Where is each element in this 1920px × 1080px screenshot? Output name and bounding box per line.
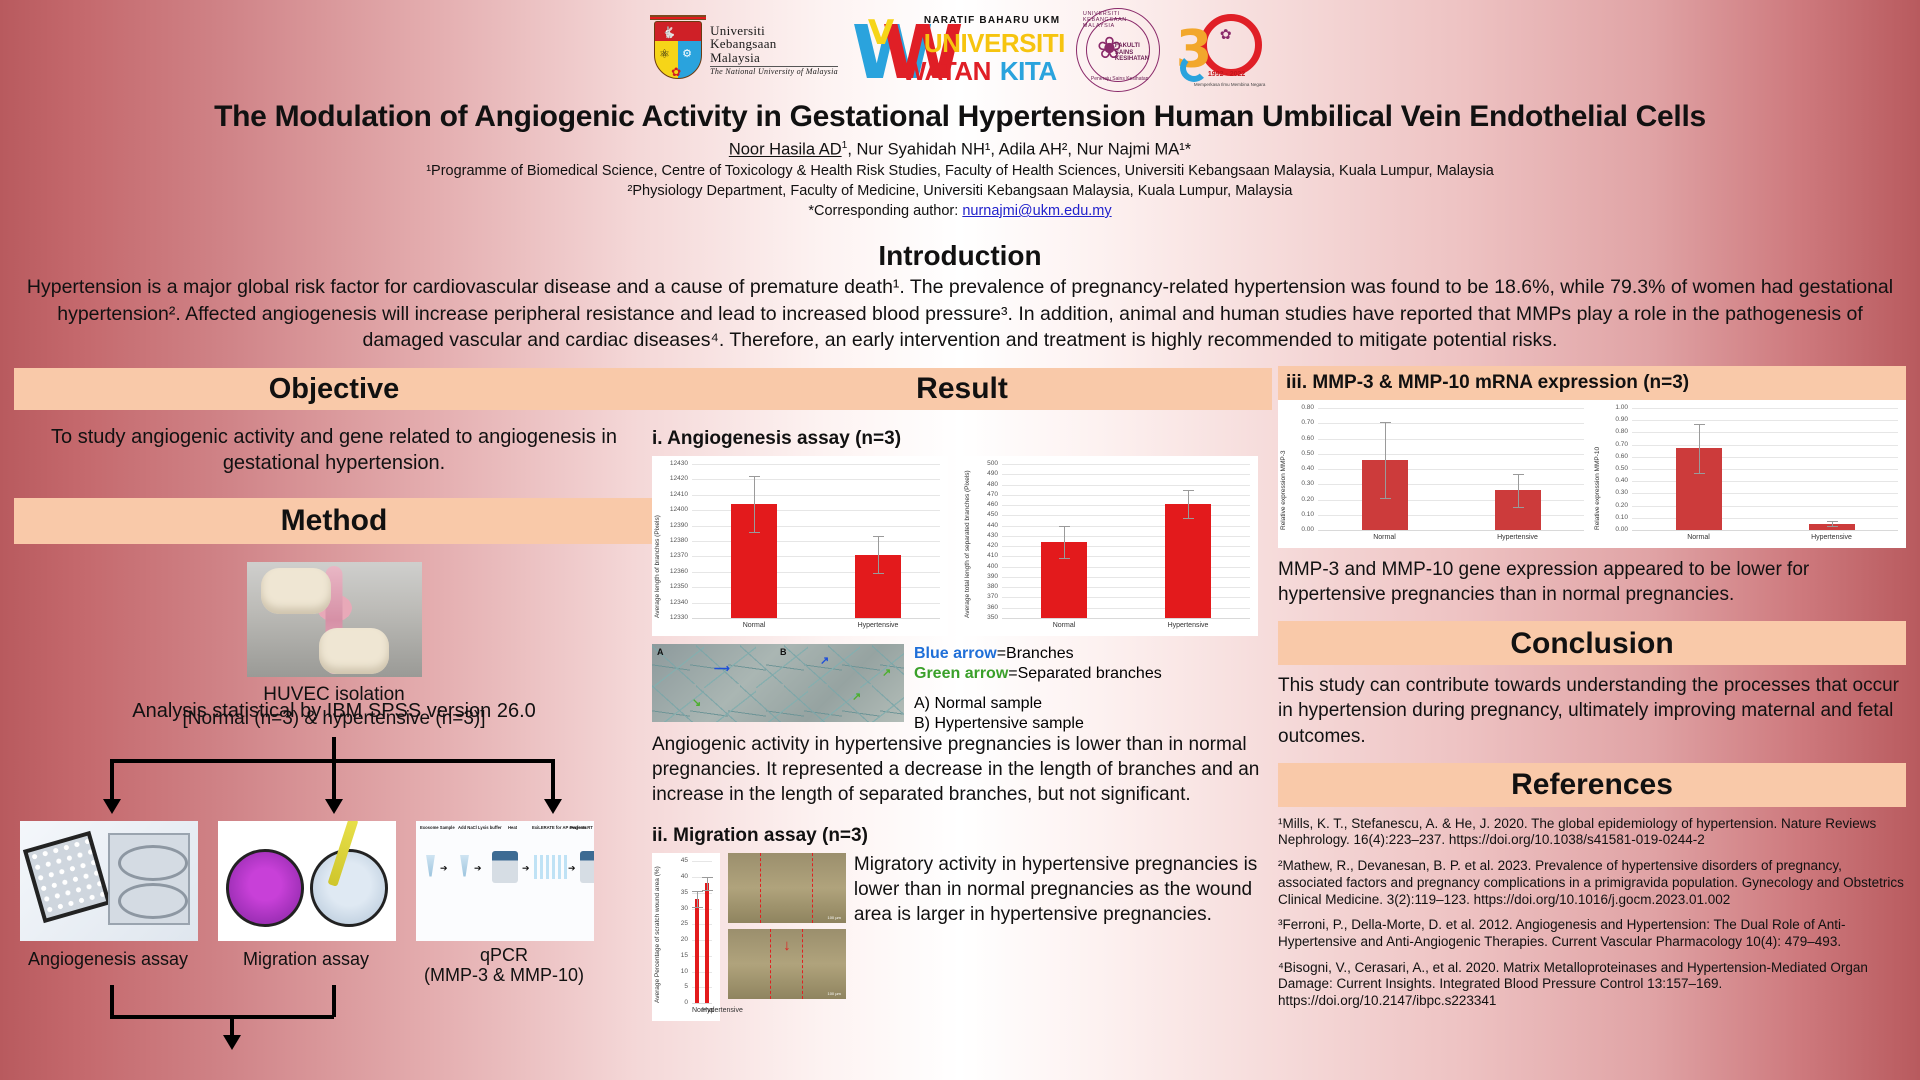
error-bar-cap <box>873 536 884 537</box>
x-axis-tick: Normal <box>1318 534 1451 541</box>
flow-stem <box>332 737 336 759</box>
x-axis-tick: Normal <box>1632 534 1765 541</box>
huvec-isolation-photo <box>247 562 422 677</box>
x-axis-line <box>692 618 940 619</box>
qpcr-step-label-5: Perform RT <box>570 825 593 830</box>
y-axis-tick: 460 <box>974 501 998 508</box>
error-bar <box>1699 424 1700 473</box>
gridline <box>1002 587 1250 588</box>
gridline <box>1318 423 1584 424</box>
y-axis-tick: 0.00 <box>1290 526 1314 533</box>
y-axis-tick: 360 <box>974 604 998 611</box>
y-axis-tick: 12340 <box>664 599 688 606</box>
poster-title: The Modulation of Angiogenic Activity in… <box>0 100 1920 134</box>
y-axis-tick: 0.40 <box>1604 477 1628 484</box>
x-axis-tick: Normal <box>692 622 816 629</box>
ukm-shield-icon: 🐇⚛ ⚙✿ <box>650 13 706 87</box>
y-axis-tick: 410 <box>974 552 998 559</box>
x-axis-tick: Normal <box>692 1007 702 1014</box>
chart-average-length-of-branches: Average length of branches (Pixels)12330… <box>652 456 948 636</box>
ukm-line-1: Universiti <box>710 24 838 37</box>
y-axis-tick: 35 <box>664 889 688 896</box>
y-axis-tick: 0.30 <box>1604 489 1628 496</box>
reference-item-1: ¹Mills, K. T., Stefanescu, A. & He, J. 2… <box>1278 816 1906 849</box>
gridline <box>692 572 940 573</box>
sample-b-caption: B) Hypertensive sample <box>914 714 1162 734</box>
error-bar-cap <box>1513 474 1524 475</box>
gridline <box>692 526 940 527</box>
y-axis-tick: 0.50 <box>1604 465 1628 472</box>
arrow-legend: Blue arrow=Branches Green arrow=Separate… <box>914 644 1162 734</box>
gridline <box>1318 484 1584 485</box>
corresponding-email-link[interactable]: nurnajmi@ukm.edu.my <box>962 203 1111 219</box>
qpcr-step-label-2: Add NaCl Lysis buffer <box>458 825 502 830</box>
flow-return-2 <box>332 985 336 1017</box>
error-bar <box>1518 474 1519 508</box>
error-bar-cap <box>1513 507 1524 508</box>
gridline <box>1632 420 1898 421</box>
gridline <box>1002 536 1250 537</box>
flow-arrowhead-1 <box>103 799 121 814</box>
x-axis-tick: Hypertensive <box>816 622 940 629</box>
bar <box>1165 504 1211 618</box>
anniversary-sub: Memperkasa Ilmu Membina Negara <box>1194 82 1266 87</box>
qpcr-workflow-image: Exosome Sample Add NaCl Lysis buffer Hea… <box>416 821 594 941</box>
conclusion-body: This study can contribute towards unders… <box>1278 673 1906 748</box>
gridline <box>1632 432 1898 433</box>
y-axis-tick: 0.10 <box>1290 511 1314 518</box>
y-axis-tick: 20 <box>664 936 688 943</box>
naratif-watan-text: WATAN <box>902 56 991 87</box>
y-axis-title: Average length of branches (Pixels) <box>654 464 661 618</box>
error-bar <box>878 536 879 573</box>
flow-branch-1 <box>110 759 114 801</box>
y-axis-tick: 0.70 <box>1290 419 1314 426</box>
y-axis-tick: 0 <box>664 999 688 1006</box>
angiogenesis-plate-image <box>20 821 198 941</box>
x-axis-tick: Hypertensive <box>1765 534 1898 541</box>
y-axis-tick: 0.20 <box>1290 496 1314 503</box>
x-axis-tick: Normal <box>1002 622 1126 629</box>
y-axis-tick: 490 <box>974 470 998 477</box>
y-axis-tick: 12430 <box>664 460 688 467</box>
fsk-ring-text: UNIVERSITI KEBANGSAAN MALAYSIA <box>1083 11 1159 29</box>
y-axis-title: Average Percentage of scratch wound area… <box>654 861 661 1003</box>
qpcr-label-line-2: (MMP-3 & MMP-10) <box>404 965 604 986</box>
objective-body: To study angiogenic activity and gene re… <box>14 424 654 476</box>
y-axis-tick: 12370 <box>664 552 688 559</box>
y-axis-tick: 0.10 <box>1604 514 1628 521</box>
gridline <box>1632 518 1898 519</box>
error-bar-cap <box>692 907 703 908</box>
gridline <box>1632 457 1898 458</box>
mmp-result-text: MMP-3 and MMP-10 gene expression appeare… <box>1278 558 1906 607</box>
error-bar-cap <box>873 573 884 574</box>
error-bar-cap <box>1183 518 1194 519</box>
error-bar <box>697 891 698 907</box>
flow-arrowhead-3 <box>544 799 562 814</box>
y-axis-tick: 0.80 <box>1604 428 1628 435</box>
reference-item-2: ²Mathew, R., Devanesan, B. P. et al. 202… <box>1278 858 1906 908</box>
gridline <box>1318 515 1584 516</box>
chart-mmp3-expression: Relative expression MMP-30.000.100.200.3… <box>1278 400 1592 548</box>
y-axis-tick: 15 <box>664 952 688 959</box>
sample-a-caption: A) Normal sample <box>914 694 1162 714</box>
gridline <box>1632 493 1898 494</box>
angiogenesis-result-text: Angiogenic activity in hypertensive preg… <box>652 732 1272 807</box>
y-axis-tick: 370 <box>974 593 998 600</box>
reference-item-4: ⁴Bisogni, V., Cerasari, A., et al. 2020.… <box>1278 960 1906 1010</box>
fsk-sub-text: Peneraju Sains Kesihatan <box>1091 76 1149 82</box>
y-axis-tick: 40 <box>664 873 688 880</box>
gridline <box>692 861 712 862</box>
gridline <box>1318 439 1584 440</box>
gridline <box>1002 526 1250 527</box>
naratif-universiti-text: UNIVERSITI <box>924 28 1065 59</box>
gridline <box>1002 567 1250 568</box>
green-arrow-label: Green arrow <box>914 665 1008 682</box>
corresponding-author: *Corresponding author: nurnajmi@ukm.edu.… <box>0 202 1920 221</box>
migration-subheading: ii. Migration assay (n=3) <box>652 825 1272 847</box>
gridline <box>1002 474 1250 475</box>
gridline <box>1318 408 1584 409</box>
flow-return-arrowhead <box>223 1035 241 1050</box>
corresponding-label: *Corresponding author: <box>808 203 962 219</box>
y-axis-tick: 0.70 <box>1604 441 1628 448</box>
y-axis-tick: 0.50 <box>1290 450 1314 457</box>
scalebar-label-2: 100 µm <box>827 991 840 996</box>
gridline <box>692 541 940 542</box>
x-axis-line <box>692 1003 712 1004</box>
y-axis-tick: 12390 <box>664 522 688 529</box>
y-axis-tick: 420 <box>974 542 998 549</box>
chart-scratch-wound-area: Average Percentage of scratch wound area… <box>652 853 720 1021</box>
chart-separated-branches: Average total length of separated branch… <box>962 456 1258 636</box>
error-bar-cap <box>1059 526 1070 527</box>
y-axis-tick: 0.20 <box>1604 502 1628 509</box>
introduction-heading: Introduction <box>0 240 1920 272</box>
gridline <box>1002 577 1250 578</box>
gridline <box>1002 505 1250 506</box>
y-axis-tick: 450 <box>974 511 998 518</box>
affiliation-1: ¹Programme of Biomedical Science, Centre… <box>0 162 1920 181</box>
middle-column: Result i. Angiogenesis assay (n=3) Avera… <box>652 368 1272 1021</box>
gridline <box>1632 506 1898 507</box>
gridline <box>1002 546 1250 547</box>
mmp-banner: iii. MMP-3 & MMP-10 mRNA expression (n=3… <box>1278 366 1906 400</box>
qpcr-label-line-1: qPCR <box>404 945 604 966</box>
gridline <box>1318 469 1584 470</box>
introduction-body: Hypertension is a major global risk fact… <box>22 274 1898 354</box>
gridline <box>692 556 940 557</box>
error-bar <box>754 476 755 531</box>
y-axis-tick: 30 <box>664 905 688 912</box>
first-author: Noor Hasila AD <box>729 141 842 159</box>
x-axis-tick: Hypertensive <box>1451 534 1584 541</box>
error-bar-cap <box>749 532 760 533</box>
y-axis-tick: 0.00 <box>1604 526 1628 533</box>
y-axis-tick: 12420 <box>664 475 688 482</box>
error-bar-cap <box>1694 473 1705 474</box>
error-bar <box>1064 526 1065 559</box>
gridline <box>1318 454 1584 455</box>
qpcr-step-label-3: Heat <box>508 825 517 830</box>
conclusion-banner: Conclusion <box>1278 621 1906 665</box>
fakulti-sains-kesihatan-logo: UNIVERSITI KEBANGSAAN MALAYSIA ❀ FAKULTI… <box>1076 8 1160 92</box>
flow-return-1 <box>110 985 114 1017</box>
author-list: Noor Hasila AD1, Nur Syahidah NH¹, Adila… <box>0 140 1920 160</box>
gridline <box>1632 445 1898 446</box>
scratch-assay-photo-hypertensive: ↓ 100 µm <box>728 929 846 999</box>
error-bar-cap <box>1380 422 1391 423</box>
y-axis-tick: 390 <box>974 573 998 580</box>
ukm-wordmark: Universiti Kebangsaan Malaysia The Natio… <box>710 24 838 76</box>
angiogenesis-charts-row: Average length of branches (Pixels)12330… <box>652 456 1272 636</box>
author-rest: , Nur Syahidah NH¹, Adila AH², Nur Najmi… <box>847 141 1191 159</box>
y-axis-tick: 0.90 <box>1604 416 1628 423</box>
poster-canvas: 🐇⚛ ⚙✿ Universiti Kebangsaan Malaysia The… <box>0 0 1920 1080</box>
ukm-crest-logo: 🐇⚛ ⚙✿ Universiti Kebangsaan Malaysia The… <box>650 13 838 87</box>
error-bar-cap <box>1694 424 1705 425</box>
left-column: Objective To study angiogenic activity a… <box>14 368 654 987</box>
gridline <box>692 587 940 588</box>
x-axis-line <box>1318 530 1584 531</box>
y-axis-tick: 380 <box>974 583 998 590</box>
bar <box>695 899 699 1003</box>
gridline <box>1002 485 1250 486</box>
blue-arrow-meaning: =Branches <box>997 645 1074 662</box>
error-bar <box>1188 490 1189 519</box>
scratch-assay-photo-normal: 100 µm <box>728 853 846 923</box>
y-axis-tick: 12330 <box>664 614 688 621</box>
y-axis-title: Average total length of separated branch… <box>964 464 971 618</box>
y-axis-tick: 12350 <box>664 583 688 590</box>
y-axis-tick: 1.00 <box>1604 404 1628 411</box>
ukm-tagline: The National University of Malaysia <box>710 66 838 76</box>
method-label-angiogenesis: Angiogenesis assay <box>8 949 208 970</box>
y-axis-tick: 12360 <box>664 568 688 575</box>
y-axis-tick: 0.80 <box>1290 404 1314 411</box>
gridline <box>1002 464 1250 465</box>
naratif-top-text: NARATIF BAHARU UKM <box>924 15 1060 26</box>
scalebar-label-1: 100 µm <box>827 915 840 920</box>
method-flow-diagram: Exosome Sample Add NaCl Lysis buffer Hea… <box>14 737 654 987</box>
result-banner: Result <box>652 368 1272 410</box>
flow-return-stem <box>230 1015 234 1037</box>
right-column: iii. MMP-3 & MMP-10 mRNA expression (n=3… <box>1278 366 1906 1010</box>
gridline <box>1002 515 1250 516</box>
y-axis-tick: 430 <box>974 532 998 539</box>
gridline <box>692 510 940 511</box>
gridline <box>1632 481 1898 482</box>
x-axis-tick: Hypertensive <box>1126 622 1250 629</box>
y-axis-tick: 400 <box>974 563 998 570</box>
statistical-analysis-note: Analysis statistical by IBM SPSS version… <box>14 700 654 723</box>
error-bar-cap <box>1827 521 1838 522</box>
gridline <box>692 464 940 465</box>
method-banner: Method <box>14 498 654 544</box>
y-axis-tick: 500 <box>974 460 998 467</box>
panel-a-label: A <box>657 647 664 657</box>
y-axis-tick: 350 <box>974 614 998 621</box>
y-axis-tick: 10 <box>664 968 688 975</box>
affiliation-2: ²Physiology Department, Faculty of Medic… <box>0 182 1920 201</box>
gridline <box>692 603 940 604</box>
gridline <box>692 479 940 480</box>
flow-branch-2 <box>332 759 336 801</box>
error-bar-cap <box>1827 526 1838 527</box>
gridline <box>692 495 940 496</box>
x-axis-line <box>1002 618 1250 619</box>
error-bar-cap <box>692 891 703 892</box>
anniversary-years: 1992 - 2022 <box>1208 71 1245 78</box>
mmp-charts-row: Relative expression MMP-30.000.100.200.3… <box>1278 400 1906 548</box>
y-axis-tick: 12410 <box>664 491 688 498</box>
error-bar-cap <box>749 476 760 477</box>
error-bar-cap <box>702 890 713 891</box>
migration-dish-image <box>218 821 396 941</box>
y-axis-tick: 5 <box>664 983 688 990</box>
30th-anniversary-logo: 3 ✿ 1992 - 2022 Memperkasa Ilmu Membina … <box>1174 10 1270 90</box>
error-bar <box>1385 422 1386 498</box>
y-axis-tick: 12400 <box>664 506 688 513</box>
error-bar <box>707 877 708 890</box>
gridline <box>1318 500 1584 501</box>
naratif-kita-text: KITA <box>1000 56 1057 87</box>
y-axis-tick: 480 <box>974 481 998 488</box>
logo-row: 🐇⚛ ⚙✿ Universiti Kebangsaan Malaysia The… <box>0 6 1920 94</box>
chart-mmp10-expression: Relative expression MMP-100.000.100.200.… <box>1592 400 1906 548</box>
y-axis-tick: 25 <box>664 920 688 927</box>
qpcr-step-label-1: Exosome Sample <box>420 825 455 830</box>
blue-arrow-label: Blue arrow <box>914 645 997 662</box>
error-bar-cap <box>1183 490 1194 491</box>
gridline <box>1002 608 1250 609</box>
migration-result-text: Migratory activity in hypertensive pregn… <box>854 853 1272 1021</box>
bar <box>705 883 709 1003</box>
angiogenesis-subheading: i. Angiogenesis assay (n=3) <box>652 428 1272 450</box>
y-axis-tick: 12380 <box>664 537 688 544</box>
x-axis-line <box>1632 530 1898 531</box>
y-axis-title: Relative expression MMP-3 <box>1280 408 1287 530</box>
ukm-line-3: Malaysia <box>710 51 838 64</box>
reference-item-3: ³Ferroni, P., Della-Morte, D. et al. 201… <box>1278 917 1906 950</box>
y-axis-tick: 0.60 <box>1290 435 1314 442</box>
y-axis-title: Relative expression MMP-10 <box>1594 408 1601 530</box>
gridline <box>1002 556 1250 557</box>
gridline <box>1002 597 1250 598</box>
y-axis-tick: 470 <box>974 491 998 498</box>
error-bar-cap <box>1059 558 1070 559</box>
green-arrow-meaning: =Separated branches <box>1008 665 1161 682</box>
objective-banner: Objective <box>14 368 654 410</box>
y-axis-tick: 440 <box>974 522 998 529</box>
gridline <box>1632 469 1898 470</box>
tube-formation-photo: A B ⟶ ↗ ↘ ↗ ↗ <box>652 644 904 722</box>
y-axis-tick: 45 <box>664 857 688 864</box>
ukm-line-2: Kebangsaan <box>710 37 838 50</box>
naratif-baharu-ukm-logo: WWV NARATIF BAHARU UKM UNIVERSITI WATAN … <box>852 10 1062 90</box>
flow-branch-3 <box>551 759 555 801</box>
flow-arrowhead-2 <box>325 799 343 814</box>
references-banner: References <box>1278 763 1906 807</box>
method-label-migration: Migration assay <box>206 949 406 970</box>
y-axis-tick: 0.60 <box>1604 453 1628 460</box>
migration-row: Average Percentage of scratch wound area… <box>652 853 1272 1021</box>
gridline <box>1632 408 1898 409</box>
flow-return-bus <box>110 1015 334 1019</box>
x-axis-tick: Hypertensive <box>702 1007 712 1014</box>
y-axis-tick: 0.30 <box>1290 480 1314 487</box>
panel-b-label: B <box>780 647 787 657</box>
fsk-center-text: FAKULTI SAINS KESIHATAN <box>1115 43 1159 63</box>
error-bar-cap <box>702 877 713 878</box>
y-axis-tick: 0.40 <box>1290 465 1314 472</box>
method-label-qpcr: qPCR (MMP-3 & MMP-10) <box>404 945 604 986</box>
gridline <box>1002 495 1250 496</box>
error-bar-cap <box>1380 498 1391 499</box>
